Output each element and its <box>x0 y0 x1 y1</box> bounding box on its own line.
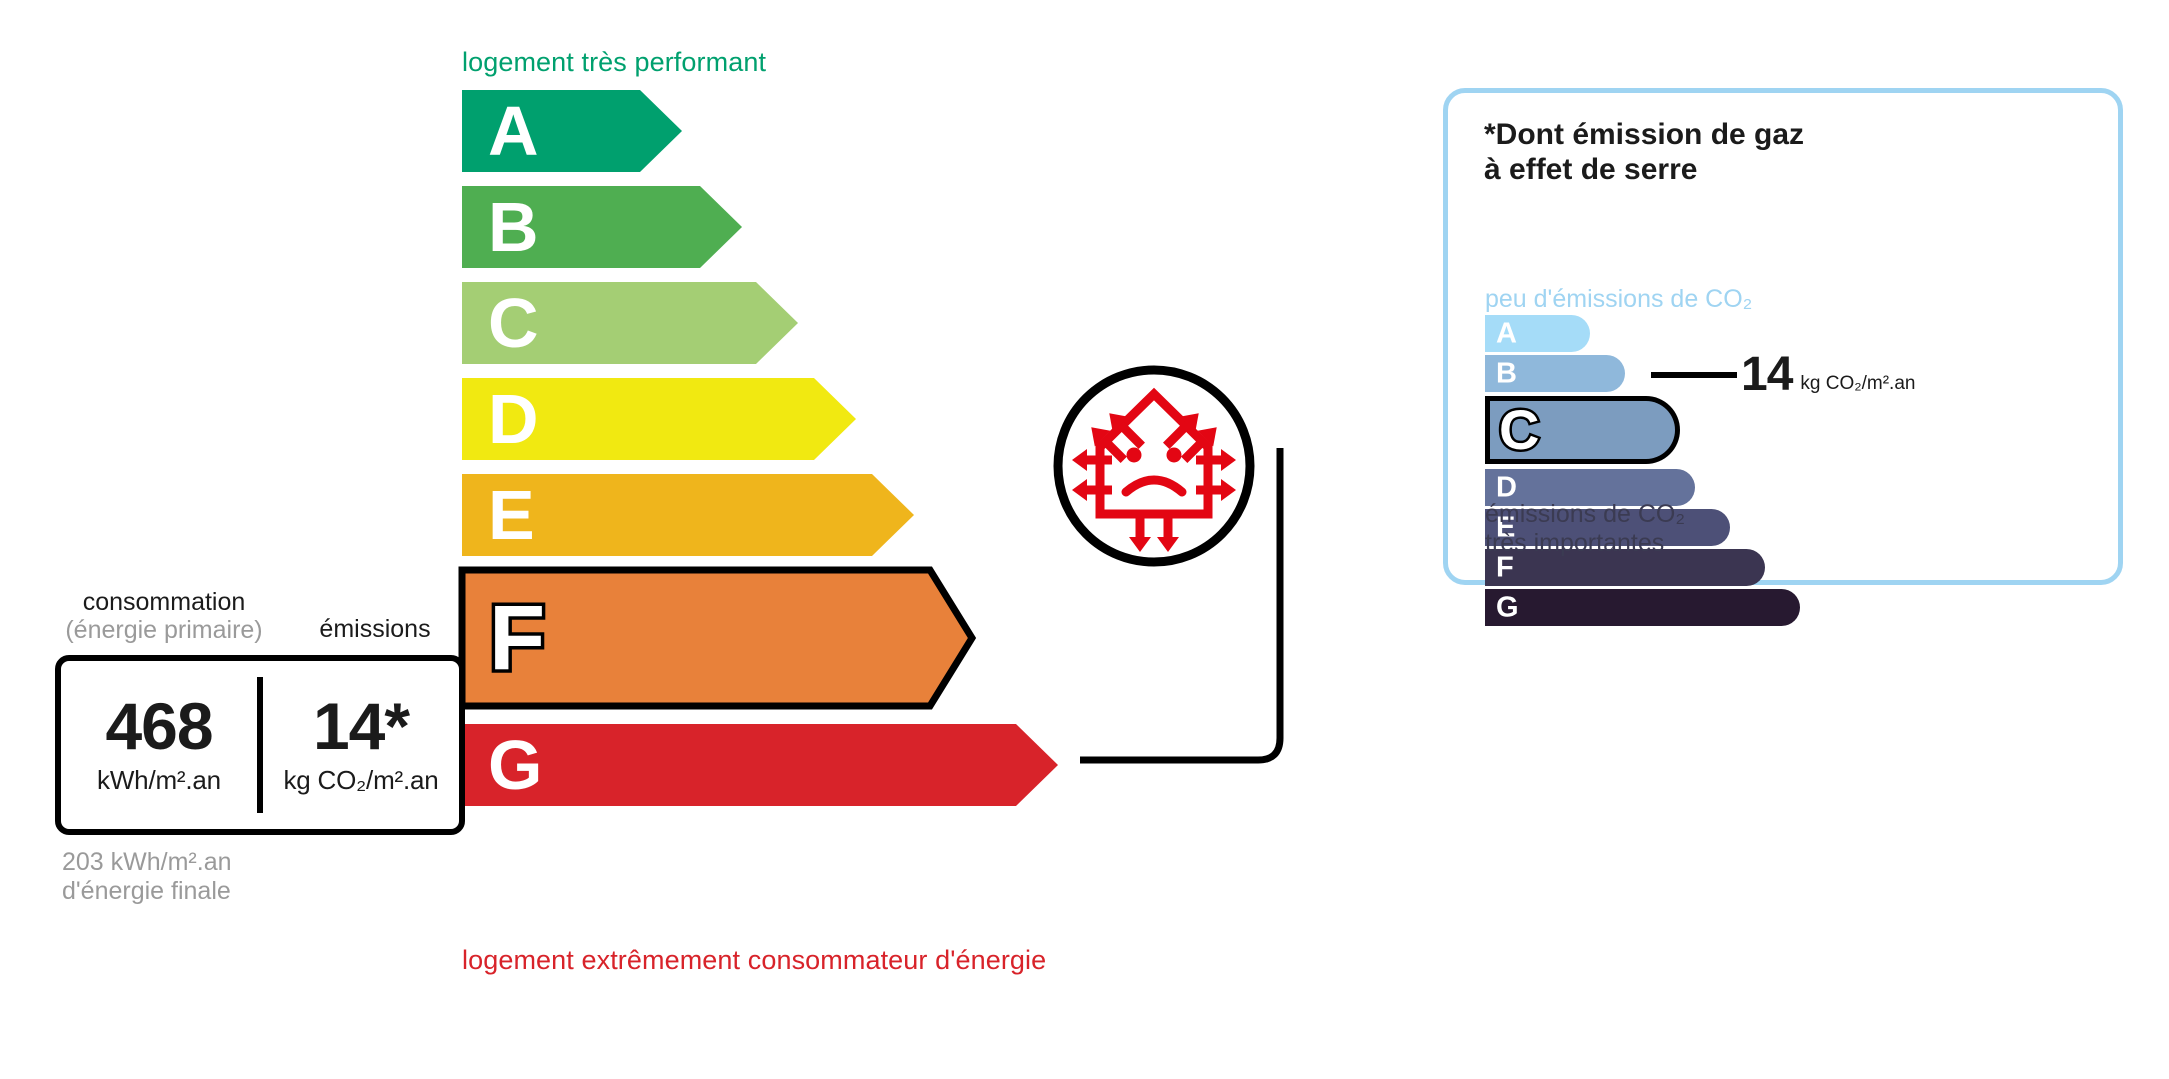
co2-callout-value: 14 <box>1741 351 1792 399</box>
consumption-header-main: consommation <box>55 588 273 616</box>
energy-band-c: C <box>462 282 798 364</box>
emissions-value: 14* <box>313 694 409 759</box>
energy-band-g: G <box>462 724 1058 806</box>
energy-band-a: A <box>462 90 682 172</box>
scale-bottom-caption: logement extrêmement consommateur d'éner… <box>462 945 1046 976</box>
energy-band-shape-e <box>462 474 914 556</box>
consumption-header-sub: (énergie primaire) <box>55 616 273 644</box>
co2-bar-letter-a: A <box>1496 319 1517 348</box>
co2-title-line2: à effet de serre <box>1484 153 1804 188</box>
energy-band-b: B <box>462 186 742 268</box>
co2-bar-letter-d: D <box>1496 473 1517 502</box>
energy-performance-scale: logement très performant ABCDEFG logemen… <box>0 0 1330 1079</box>
energy-band-shape-c <box>462 282 798 364</box>
co2-bar-letter-b: B <box>1496 359 1517 388</box>
co2-bottom-caption-line2: très importantes <box>1485 529 1685 558</box>
emissions-header: émissions <box>285 615 465 643</box>
co2-value-callout: 14 kg CO₂/m².an <box>1651 351 1915 399</box>
consumption-value: 468 <box>105 694 212 759</box>
co2-panel-title: *Dont émission de gaz à effet de serre <box>1484 118 1804 188</box>
co2-bar-g <box>1485 589 1800 626</box>
co2-title-line1: *Dont émission de gaz <box>1484 118 1804 153</box>
energy-band-f: F <box>455 563 979 713</box>
co2-callout-unit: kg CO₂/m².an <box>1800 373 1915 399</box>
dpe-value-box: 468 kWh/m².an 14* kg CO₂/m².an <box>55 655 465 835</box>
energy-band-e: E <box>462 474 914 556</box>
co2-emissions-panel: *Dont émission de gaz à effet de serre p… <box>1443 88 2123 585</box>
co2-bar-letter-c: C <box>1499 402 1539 458</box>
energy-band-shape-f <box>455 563 979 713</box>
energy-band-d: D <box>462 378 856 460</box>
co2-bar-left-edge <box>1485 396 1490 464</box>
consumption-header: consommation (énergie primaire) <box>55 588 273 644</box>
energy-band-shape-b <box>462 186 742 268</box>
energy-band-shape-a <box>462 90 682 172</box>
co2-top-caption: peu d'émissions de CO₂ <box>1485 285 1752 314</box>
house-heat-loss-icon <box>1052 364 1256 568</box>
energy-band-shape-d <box>462 378 856 460</box>
scale-top-caption: logement très performant <box>462 47 766 78</box>
co2-bottom-caption-line1: émissions de CO₂ <box>1485 500 1685 529</box>
emissions-value-cell: 14* kg CO₂/m².an <box>263 661 459 829</box>
final-energy-value: 203 kWh/m².an <box>62 848 232 877</box>
emissions-unit: kg CO₂/m².an <box>283 765 438 796</box>
energy-band-shape-g <box>462 724 1058 806</box>
consumption-unit: kWh/m².an <box>97 765 221 796</box>
consumption-value-cell: 468 kWh/m².an <box>61 661 257 829</box>
callout-rule <box>1651 372 1737 378</box>
co2-bar-letter-g: G <box>1496 593 1519 622</box>
final-energy-note: 203 kWh/m².an d'énergie finale <box>62 848 232 907</box>
final-energy-label: d'énergie finale <box>62 877 232 906</box>
co2-bottom-caption: émissions de CO₂ très importantes <box>1485 500 1685 558</box>
